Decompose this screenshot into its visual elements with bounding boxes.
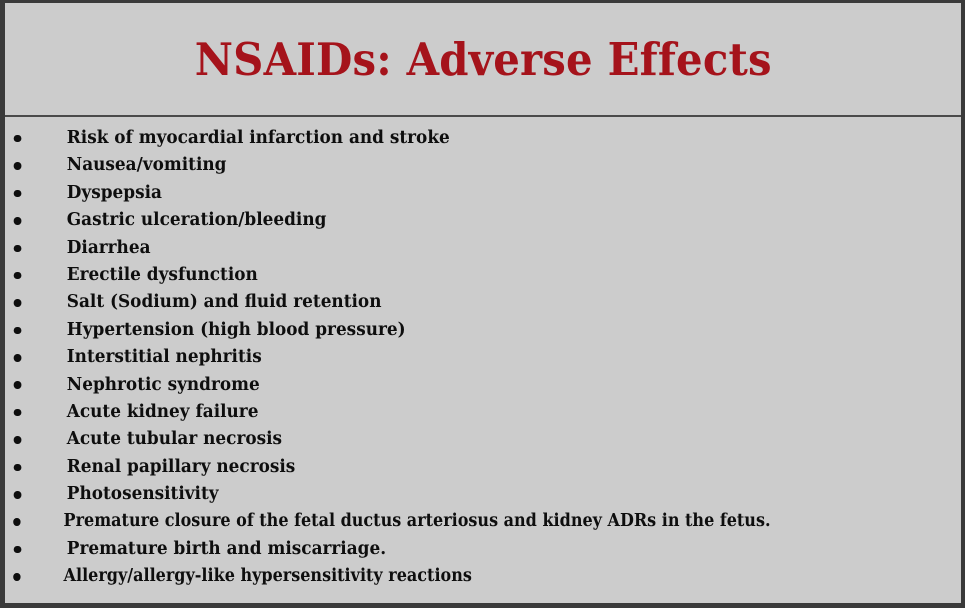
bullet-dot-icon (14, 272, 21, 280)
bullet-dot-icon (14, 436, 21, 444)
list-item-label: Dyspepsia (67, 180, 162, 207)
bullet-dot-icon (14, 491, 21, 499)
list-item: Acute tubular necrosis (5, 426, 928, 453)
list-item: Photosensitivity (5, 481, 928, 508)
bullet-dot-icon (14, 327, 21, 335)
list-item-label: Acute tubular necrosis (67, 426, 282, 453)
list-item: Risk of myocardial infarction and stroke (5, 125, 928, 152)
list-item: Dyspepsia (5, 180, 928, 207)
bullet-dot-icon (14, 409, 21, 417)
bullet-dot-icon (14, 299, 21, 307)
list-item-label: Nephrotic syndrome (67, 372, 260, 399)
list-item-label: Erectile dysfunction (67, 262, 258, 289)
list-item-label: Interstitial nephritis (67, 344, 262, 371)
title-band: NSAIDs: Adverse Effects (5, 3, 961, 117)
page-title: NSAIDs: Adverse Effects (194, 37, 771, 82)
bullet-dot-icon (14, 217, 21, 225)
list-item: Gastric ulceration/bleeding (5, 207, 928, 234)
bullet-dot-icon (13, 573, 20, 581)
bullet-dot-icon (14, 354, 21, 362)
list-item-label: Nausea/vomiting (67, 152, 227, 179)
slide-container: NSAIDs: Adverse Effects Risk of myocardi… (0, 0, 965, 608)
bullet-dot-icon (14, 162, 21, 170)
list-item-label: Photosensitivity (67, 481, 219, 508)
adverse-effects-list: Risk of myocardial infarction and stroke… (5, 125, 961, 591)
list-item-label: Risk of myocardial infarction and stroke (67, 125, 450, 152)
list-item-label: Hypertension (high blood pressure) (67, 317, 406, 344)
bullet-dot-icon (13, 518, 20, 526)
list-item: Premature birth and miscarriage. (5, 536, 928, 563)
list-item: Salt (Sodium) and fluid retention (5, 289, 928, 316)
list-item-label: Diarrhea (67, 235, 151, 262)
list-item: Nausea/vomiting (5, 152, 928, 179)
bullet-dot-icon (14, 190, 21, 198)
list-item: Interstitial nephritis (5, 344, 928, 371)
list-item: Nephrotic syndrome (5, 372, 928, 399)
bullet-dot-icon (14, 546, 21, 554)
bullet-dot-icon (14, 135, 21, 143)
list-item-label: Allergy/allergy-like hypersensitivity re… (64, 563, 472, 590)
list-item: Allergy/allergy-like hypersensitivity re… (5, 563, 880, 590)
list-item: Diarrhea (5, 235, 928, 262)
list-item-label: Acute kidney failure (67, 399, 259, 426)
content-area: Risk of myocardial infarction and stroke… (5, 117, 961, 603)
list-item-label: Premature closure of the fetal ductus ar… (64, 508, 771, 535)
bullet-dot-icon (14, 381, 21, 389)
bullet-dot-icon (14, 245, 21, 253)
list-item: Renal papillary necrosis (5, 454, 928, 481)
list-item-label: Premature birth and miscarriage. (67, 536, 386, 563)
list-item-label: Gastric ulceration/bleeding (67, 207, 327, 234)
list-item: Erectile dysfunction (5, 262, 928, 289)
bullet-dot-icon (14, 464, 21, 472)
list-item: Acute kidney failure (5, 399, 928, 426)
list-item: Hypertension (high blood pressure) (5, 317, 928, 344)
list-item: Premature closure of the fetal ductus ar… (5, 508, 880, 535)
list-item-label: Salt (Sodium) and fluid retention (67, 289, 382, 316)
list-item-label: Renal papillary necrosis (67, 454, 296, 481)
